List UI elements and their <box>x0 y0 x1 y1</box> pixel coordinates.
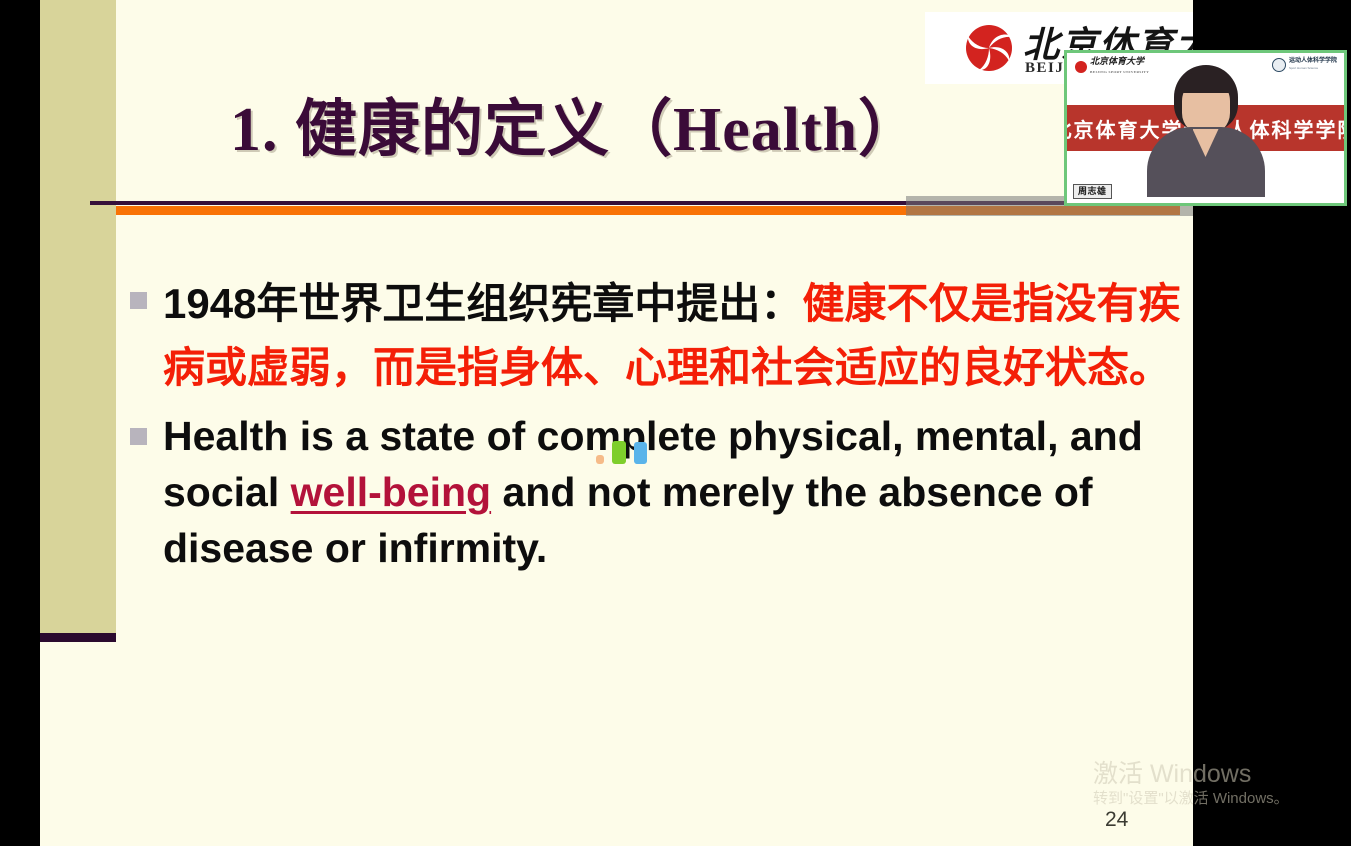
left-decorative-band <box>40 0 116 633</box>
page-title: 1. 健康的定义（Health） <box>230 92 1130 168</box>
square-bullet-icon <box>130 292 147 309</box>
video-right-logo-text: 运动人体科学学院 Sport Human Science <box>1289 58 1337 72</box>
video-letterbox-stage: 1. 健康的定义（Health） 北京体育大学 BEIJING S <box>0 0 1351 846</box>
presenter-fringe <box>1178 73 1234 93</box>
red-swirl-icon <box>963 24 1015 72</box>
presentation-slide: 1. 健康的定义（Health） 北京体育大学 BEIJING S <box>40 0 1193 846</box>
presenter-video-panel[interactable]: 北京体育大学 BEIJING SPORT UNIVERSITY 运动人体科学学院… <box>1064 50 1347 206</box>
deco-bar-blue-icon <box>634 442 647 464</box>
presenter-name-badge: 周志雄 <box>1073 184 1112 199</box>
list-item: Health is a state of complete physical, … <box>130 408 1190 576</box>
slide-body: 1948年世界卫生组织宪章中提出：健康不仅是指没有疾病或虚弱，而是指身体、心理和… <box>130 272 1190 584</box>
bullet-text-english: Health is a state of complete physical, … <box>163 408 1190 576</box>
list-item: 1948年世界卫生组织宪章中提出：健康不仅是指没有疾病或虚弱，而是指身体、心理和… <box>130 272 1190 400</box>
red-swirl-icon <box>1075 61 1087 73</box>
bullet-segment-wellbeing: well-being <box>291 469 491 515</box>
video-right-logo-en: Sport Human Science <box>1289 66 1318 70</box>
deco-bar-green-icon <box>612 441 626 464</box>
video-right-logo-cn: 运动人体科学学院 <box>1289 58 1337 64</box>
decorative-bars <box>596 438 656 464</box>
bullet-segment-black: 1948年世界卫生组织宪章中提出： <box>163 280 802 327</box>
presenter-figure <box>1122 65 1290 195</box>
deco-bar-orange-icon <box>596 455 604 464</box>
square-bullet-icon <box>130 428 147 445</box>
bullet-text-chinese: 1948年世界卫生组织宪章中提出：健康不仅是指没有疾病或虚弱，而是指身体、心理和… <box>163 272 1190 400</box>
page-number: 24 <box>1105 808 1128 832</box>
left-band-footer-bar <box>40 633 116 642</box>
